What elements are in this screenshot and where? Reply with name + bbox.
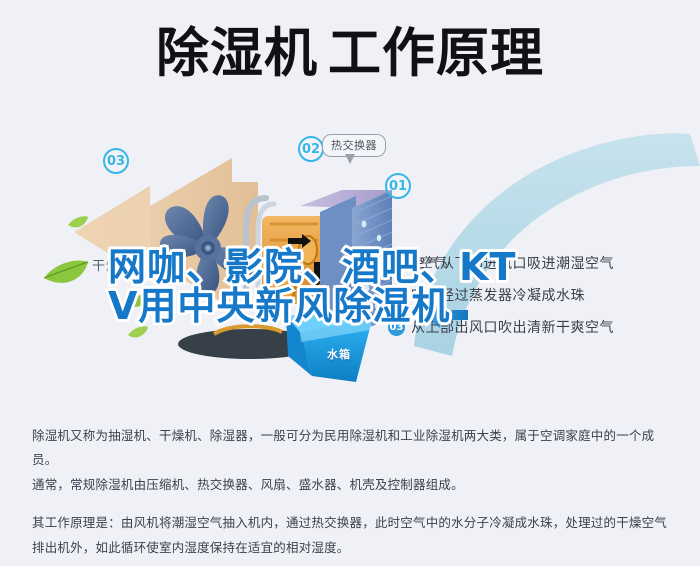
paragraph-2-line-1: 其工作原理是：由风机将潮湿空气抽入机内，通过热交换器，此时空气中的水分子冷凝成水…	[32, 511, 672, 535]
paragraph-1-line-1: 除湿机又称为抽湿机、干燥机、除湿器，一般可分为民用除湿机和工业除湿机两大类，属于…	[32, 424, 672, 473]
paragraph-1-line-2: 通常，常规除湿机由压缩机、热交换器、风扇、盛水器、机壳及控制器组成。	[32, 473, 672, 497]
water-tank-label: 水箱	[327, 346, 351, 362]
dehumidifier-infographic-page: 除湿机工作原理	[0, 0, 700, 566]
overlay-headline-line1: 网咖、影院、酒吧、KT	[108, 245, 516, 289]
body-copy: 除湿机又称为抽湿机、干燥机、除湿器，一般可分为民用除湿机和工业除湿机两大类，属于…	[32, 424, 672, 560]
badge-03: 03	[103, 148, 129, 174]
overlay-headline: 网咖、影院、酒吧、KTV用中央新风除湿机	[108, 248, 608, 326]
callout-tail	[345, 154, 355, 164]
badge-02: 02	[298, 136, 324, 162]
page-title: 除湿机工作原理	[156, 26, 544, 82]
page-title-wrapper: 除湿机工作原理	[0, 26, 700, 82]
page-title-part2: 工作原理	[328, 23, 544, 84]
paragraph-2-line-2: 排出机外，如此循环使室内湿度保持在适宜的相对湿度。	[32, 536, 672, 560]
badge-01: 01	[385, 173, 411, 199]
overlay-headline-line2: V用中央新风除湿机	[108, 287, 608, 326]
page-title-part1: 除湿机	[156, 23, 318, 84]
